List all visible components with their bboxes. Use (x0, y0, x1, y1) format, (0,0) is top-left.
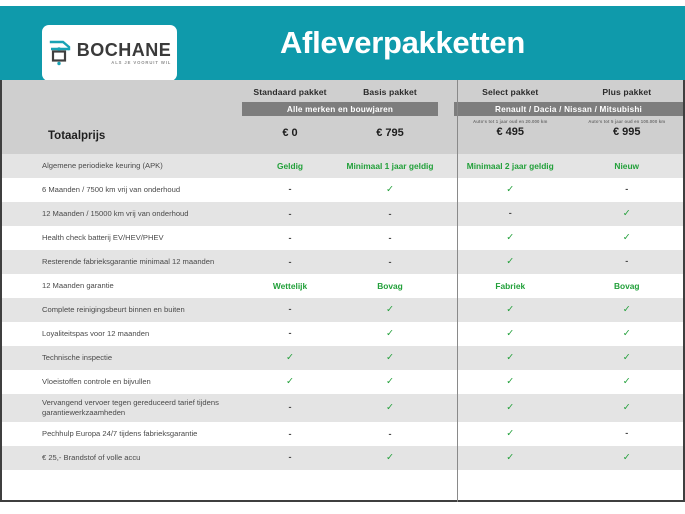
package-name-standaard: Standaard pakket (240, 87, 340, 97)
header-group-standard: Standaard pakket Basis pakket Alle merke… (240, 80, 440, 154)
table-cell: Bovag (569, 282, 685, 290)
table-cell: ✓ (340, 377, 440, 387)
table-cell: Fabriek (452, 282, 569, 290)
totaalprijs-label: Totaalprijs (48, 130, 105, 142)
table-cell: - (340, 258, 440, 267)
table-cell: - (240, 403, 340, 413)
table-cell: ✓ (340, 353, 440, 363)
row-group-standard: -✓ (240, 305, 440, 315)
page-title: Afleverpakketten (0, 6, 685, 80)
table-cell: - (569, 257, 685, 267)
table-cell: ✓ (340, 305, 440, 315)
table-cell: - (452, 209, 569, 219)
row-group-standard: -- (240, 258, 440, 267)
table-cell: Wettelijk (240, 282, 340, 290)
row-group-standard: -- (240, 430, 440, 439)
table-cell: ✓ (569, 353, 685, 363)
comparison-table-body: Algemene periodieke keuring (APK)GeldigM… (0, 154, 685, 470)
table-cell: ✓ (340, 453, 440, 463)
row-group-standard: ✓✓ (240, 353, 440, 363)
row-group-standard: -✓ (240, 403, 440, 413)
table-cell: ✓ (452, 377, 569, 387)
package-price-select: € 495 (452, 126, 569, 138)
table-footer-space (0, 470, 685, 500)
row-label: Loyaliteitspas voor 12 maanden (0, 329, 240, 339)
row-group-standard: -- (240, 234, 440, 243)
package-sub-select: Auto's tot 1 jaar oud en 20.000 km (452, 119, 569, 124)
table-cell: ✓ (569, 233, 685, 243)
table-cell: - (240, 305, 340, 315)
table-cell: ✓ (569, 403, 685, 413)
table-cell: - (240, 185, 340, 195)
group-divider-line (457, 80, 458, 502)
row-label: 6 Maanden / 7500 km vrij van onderhoud (0, 185, 240, 195)
table-cell: ✓ (452, 353, 569, 363)
table-cell: - (340, 430, 440, 439)
table-cell: - (569, 429, 685, 439)
table-cell: ✓ (240, 353, 340, 363)
row-label: 12 Maanden / 15000 km vrij van onderhoud (0, 209, 240, 219)
row-label: Vloeistoffen controle en bijvullen (0, 377, 240, 387)
row-group-renault: ✓✓ (452, 403, 685, 413)
row-group-renault: ✓✓ (452, 305, 685, 315)
table-row: 12 Maanden / 15000 km vrij van onderhoud… (0, 202, 685, 226)
row-group-renault: -✓ (452, 209, 685, 219)
row-group-renault: FabriekBovag (452, 282, 685, 290)
table-cell: - (240, 329, 340, 339)
row-group-renault: ✓✓ (452, 329, 685, 339)
table-row: Pechhulp Europa 24/7 tijdens fabrieksgar… (0, 422, 685, 446)
package-price-plus: € 995 (569, 126, 685, 138)
row-label: Algemene periodieke keuring (APK) (0, 161, 240, 171)
table-cell: - (240, 453, 340, 463)
row-label: Technische inspectie (0, 353, 240, 363)
row-group-standard: GeldigMinimaal 1 jaar geldig (240, 162, 440, 170)
table-cell: Minimaal 1 jaar geldig (340, 162, 440, 170)
row-group-renault: ✓✓ (452, 453, 685, 463)
table-row: Algemene periodieke keuring (APK)GeldigM… (0, 154, 685, 178)
table-cell: - (240, 210, 340, 219)
package-sub-plus: Auto's tot 5 jaar oud en 100.000 km (569, 119, 685, 124)
table-cell: Geldig (240, 162, 340, 170)
table-cell: ✓ (569, 453, 685, 463)
table-cell: ✓ (240, 377, 340, 387)
row-group-standard: -- (240, 210, 440, 219)
table-cell: ✓ (452, 403, 569, 413)
frame-left-border (0, 80, 2, 502)
table-cell: Bovag (340, 282, 440, 290)
table-cell: Minimaal 2 jaar geldig (452, 162, 569, 170)
table-row: Loyaliteitspas voor 12 maanden-✓✓✓ (0, 322, 685, 346)
table-row: € 25,- Brandstof of volle accu-✓✓✓ (0, 446, 685, 470)
row-group-renault: ✓✓ (452, 353, 685, 363)
table-cell: - (240, 234, 340, 243)
table-cell: ✓ (340, 329, 440, 339)
table-row: Complete reinigingsbeurt binnen en buite… (0, 298, 685, 322)
table-cell: ✓ (569, 377, 685, 387)
table-cell: ✓ (452, 185, 569, 195)
group-pill-alle-merken: Alle merken en bouwjaren (242, 102, 438, 116)
table-cell: ✓ (452, 329, 569, 339)
row-label: Pechhulp Europa 24/7 tijdens fabrieksgar… (0, 429, 240, 439)
header-group-gap (440, 80, 452, 154)
row-group-standard: -✓ (240, 329, 440, 339)
table-row: Technische inspectie✓✓✓✓ (0, 346, 685, 370)
table-column-header: Totaalprijs Standaard pakket Basis pakke… (0, 80, 685, 154)
table-cell: - (240, 258, 340, 267)
package-price-basis: € 795 (340, 127, 440, 139)
row-group-renault: Minimaal 2 jaar geldigNieuw (452, 162, 685, 170)
table-row: Health check batterij EV/HEV/PHEV--✓✓ (0, 226, 685, 250)
package-name-select: Select pakket (452, 87, 569, 97)
table-row: Resterende fabrieksgarantie minimaal 12 … (0, 250, 685, 274)
group-pill-renault-dacia-nissan-mitsubishi: Renault / Dacia / Nissan / Mitsubishi (454, 102, 683, 116)
header-label-column: Totaalprijs (0, 80, 240, 154)
header-group-renault: Select pakket Plus pakket Renault / Daci… (452, 80, 685, 154)
row-group-standard: ✓✓ (240, 377, 440, 387)
table-cell: ✓ (569, 305, 685, 315)
row-label: 12 Maanden garantie (0, 281, 240, 291)
row-label: Health check batterij EV/HEV/PHEV (0, 233, 240, 243)
row-group-renault: ✓- (452, 257, 685, 267)
row-label: Complete reinigingsbeurt binnen en buite… (0, 305, 240, 315)
table-cell: ✓ (569, 209, 685, 219)
table-cell: ✓ (452, 233, 569, 243)
table-cell: ✓ (452, 257, 569, 267)
table-row: 12 Maanden garantieWettelijkBovagFabriek… (0, 274, 685, 298)
package-name-plus: Plus pakket (569, 87, 685, 97)
table-cell: ✓ (452, 429, 569, 439)
row-group-renault: ✓✓ (452, 233, 685, 243)
table-cell: ✓ (569, 329, 685, 339)
afleverpakketten-sheet: BOCHANE ALS JE VOORUIT WIL Afleverpakket… (0, 6, 685, 502)
table-row: Vloeistoffen controle en bijvullen✓✓✓✓ (0, 370, 685, 394)
page-banner: BOCHANE ALS JE VOORUIT WIL Afleverpakket… (0, 6, 685, 80)
table-row: Vervangend vervoer tegen gereduceerd tar… (0, 394, 685, 422)
table-cell: - (340, 234, 440, 243)
row-group-standard: WettelijkBovag (240, 282, 440, 290)
row-group-renault: ✓- (452, 185, 685, 195)
row-group-standard: -✓ (240, 185, 440, 195)
table-cell: - (240, 430, 340, 439)
row-label: € 25,- Brandstof of volle accu (0, 453, 240, 463)
row-group-standard: -✓ (240, 453, 440, 463)
row-group-renault: ✓- (452, 429, 685, 439)
table-row: 6 Maanden / 7500 km vrij van onderhoud-✓… (0, 178, 685, 202)
row-label: Vervangend vervoer tegen gereduceerd tar… (0, 398, 240, 419)
frame-bottom-border (0, 500, 685, 502)
table-cell: ✓ (340, 403, 440, 413)
table-cell: - (569, 185, 685, 195)
package-name-basis: Basis pakket (340, 87, 440, 97)
package-price-standaard: € 0 (240, 127, 340, 139)
table-cell: ✓ (340, 185, 440, 195)
row-group-renault: ✓✓ (452, 377, 685, 387)
table-cell: ✓ (452, 453, 569, 463)
table-cell: Nieuw (569, 162, 685, 170)
table-cell: - (340, 210, 440, 219)
table-cell: ✓ (452, 305, 569, 315)
row-label: Resterende fabrieksgarantie minimaal 12 … (0, 257, 240, 267)
